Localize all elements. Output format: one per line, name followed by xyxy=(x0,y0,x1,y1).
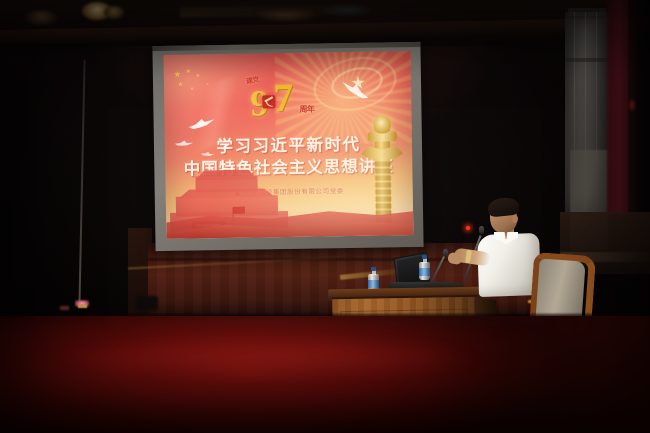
ceiling-spotlight-icon xyxy=(322,4,372,16)
anniversary-suffix-text: 周年 xyxy=(299,104,314,115)
gooseneck-microphone xyxy=(419,250,447,284)
golden-stars-cluster xyxy=(172,68,233,107)
carpet-light-pool xyxy=(60,338,480,378)
exit-light-glow xyxy=(628,98,636,112)
ceiling-spotlight-icon xyxy=(256,8,316,22)
floor-light-reflection xyxy=(60,306,69,310)
projection-screen: 建党 9 7 周年 学习习近平新时代 中国特色社会主义思想讲座 中文建设集团股份… xyxy=(152,42,423,251)
projected-slide: 建党 9 7 周年 学习习近平新时代 中国特色社会主义思想讲座 中文建设集团股份… xyxy=(164,51,414,239)
carpet-shadow-right xyxy=(430,316,650,433)
ceiling-spotlight-icon xyxy=(104,6,124,19)
hammer-and-sickle-emblem-icon xyxy=(262,95,275,108)
floor-equipment xyxy=(136,296,158,310)
microphone-stand-base xyxy=(78,304,87,308)
anniversary-number-seven: 7 xyxy=(273,78,294,118)
dark-stage-wing xyxy=(628,0,650,240)
anniversary-logo: 建党 9 7 周年 xyxy=(242,72,327,123)
screen-frame: 建党 9 7 周年 学习习近平新时代 中国特色社会主义思想讲座 中文建设集团股份… xyxy=(152,42,423,251)
ceiling-spotlight-icon xyxy=(24,10,58,26)
photograph-scene: 建党 9 7 周年 学习习近平新时代 中国特色社会主义思想讲座 中文建设集团股份… xyxy=(0,0,650,433)
